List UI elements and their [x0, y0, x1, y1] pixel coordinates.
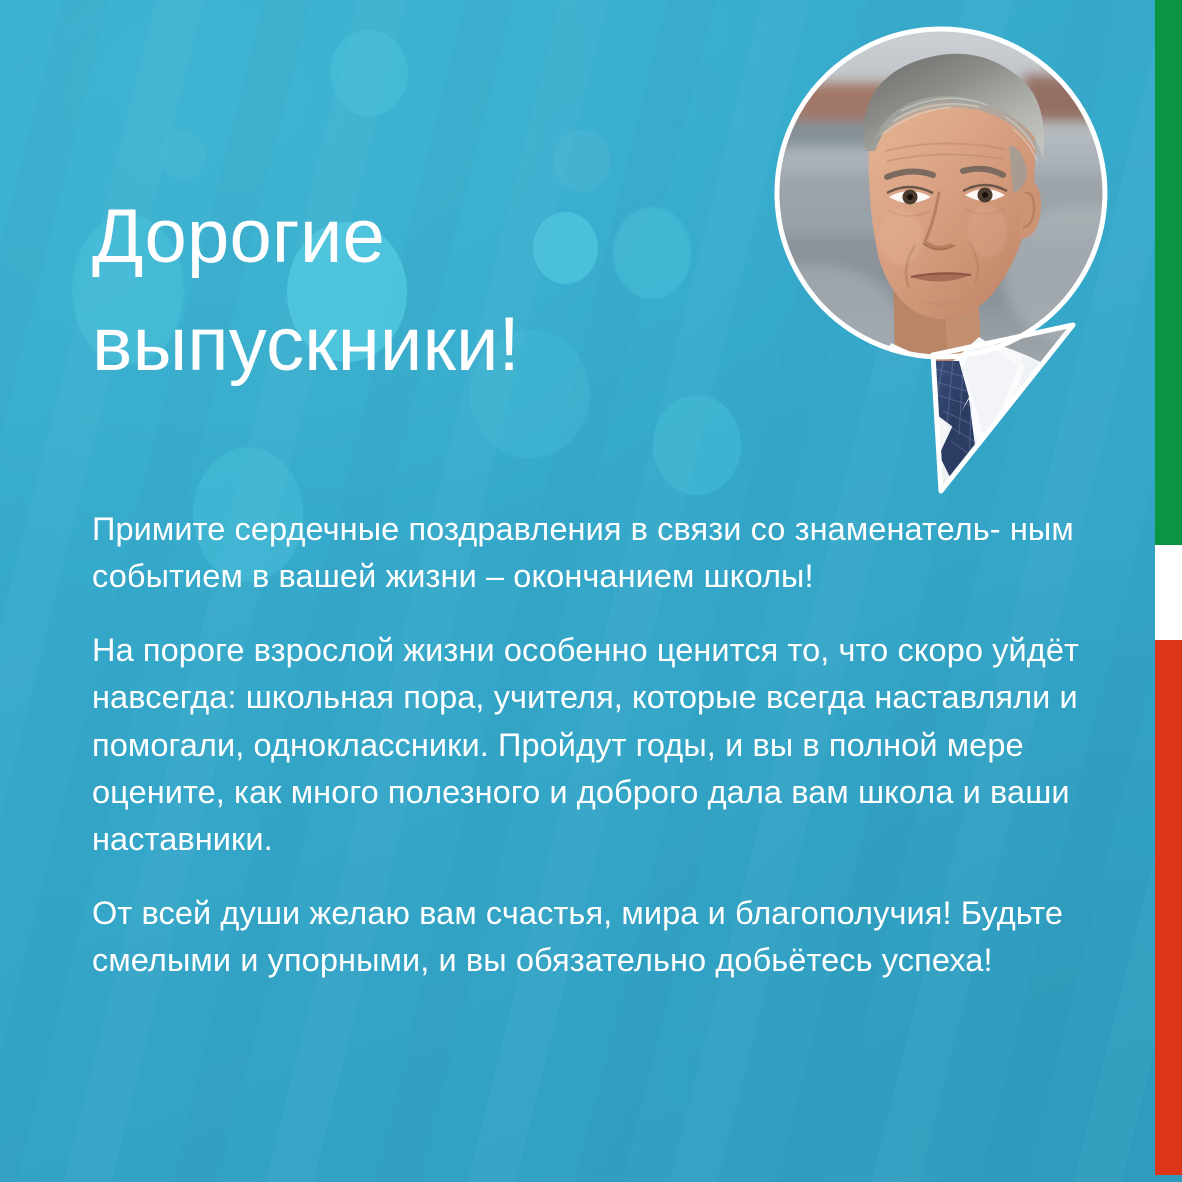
- flag-stripe-green: [1155, 0, 1182, 545]
- portrait-photo: [723, 5, 1163, 525]
- paragraph-2: На пороге взрослой жизни особенно ценитс…: [92, 627, 1112, 863]
- paragraph-3: От всей души желаю вам счастья, мира и б…: [92, 890, 1112, 984]
- poster-card: Дорогие выпускники! Примите сердечные по…: [0, 0, 1182, 1182]
- portrait-speech-bubble: [773, 25, 1109, 495]
- flag-stripe-white: [1155, 545, 1182, 640]
- flag-stripe-red: [1155, 640, 1182, 1175]
- message-body: Примите сердечные поздравления в связи с…: [92, 506, 1112, 984]
- bokeh-circle: [330, 30, 408, 116]
- tatarstan-flag-stripe: [1155, 0, 1182, 1175]
- page-title: Дорогие выпускники!: [92, 183, 732, 399]
- bokeh-circle: [653, 395, 741, 495]
- paragraph-1: Примите сердечные поздравления в связи с…: [92, 506, 1112, 600]
- bokeh-circle: [160, 130, 206, 180]
